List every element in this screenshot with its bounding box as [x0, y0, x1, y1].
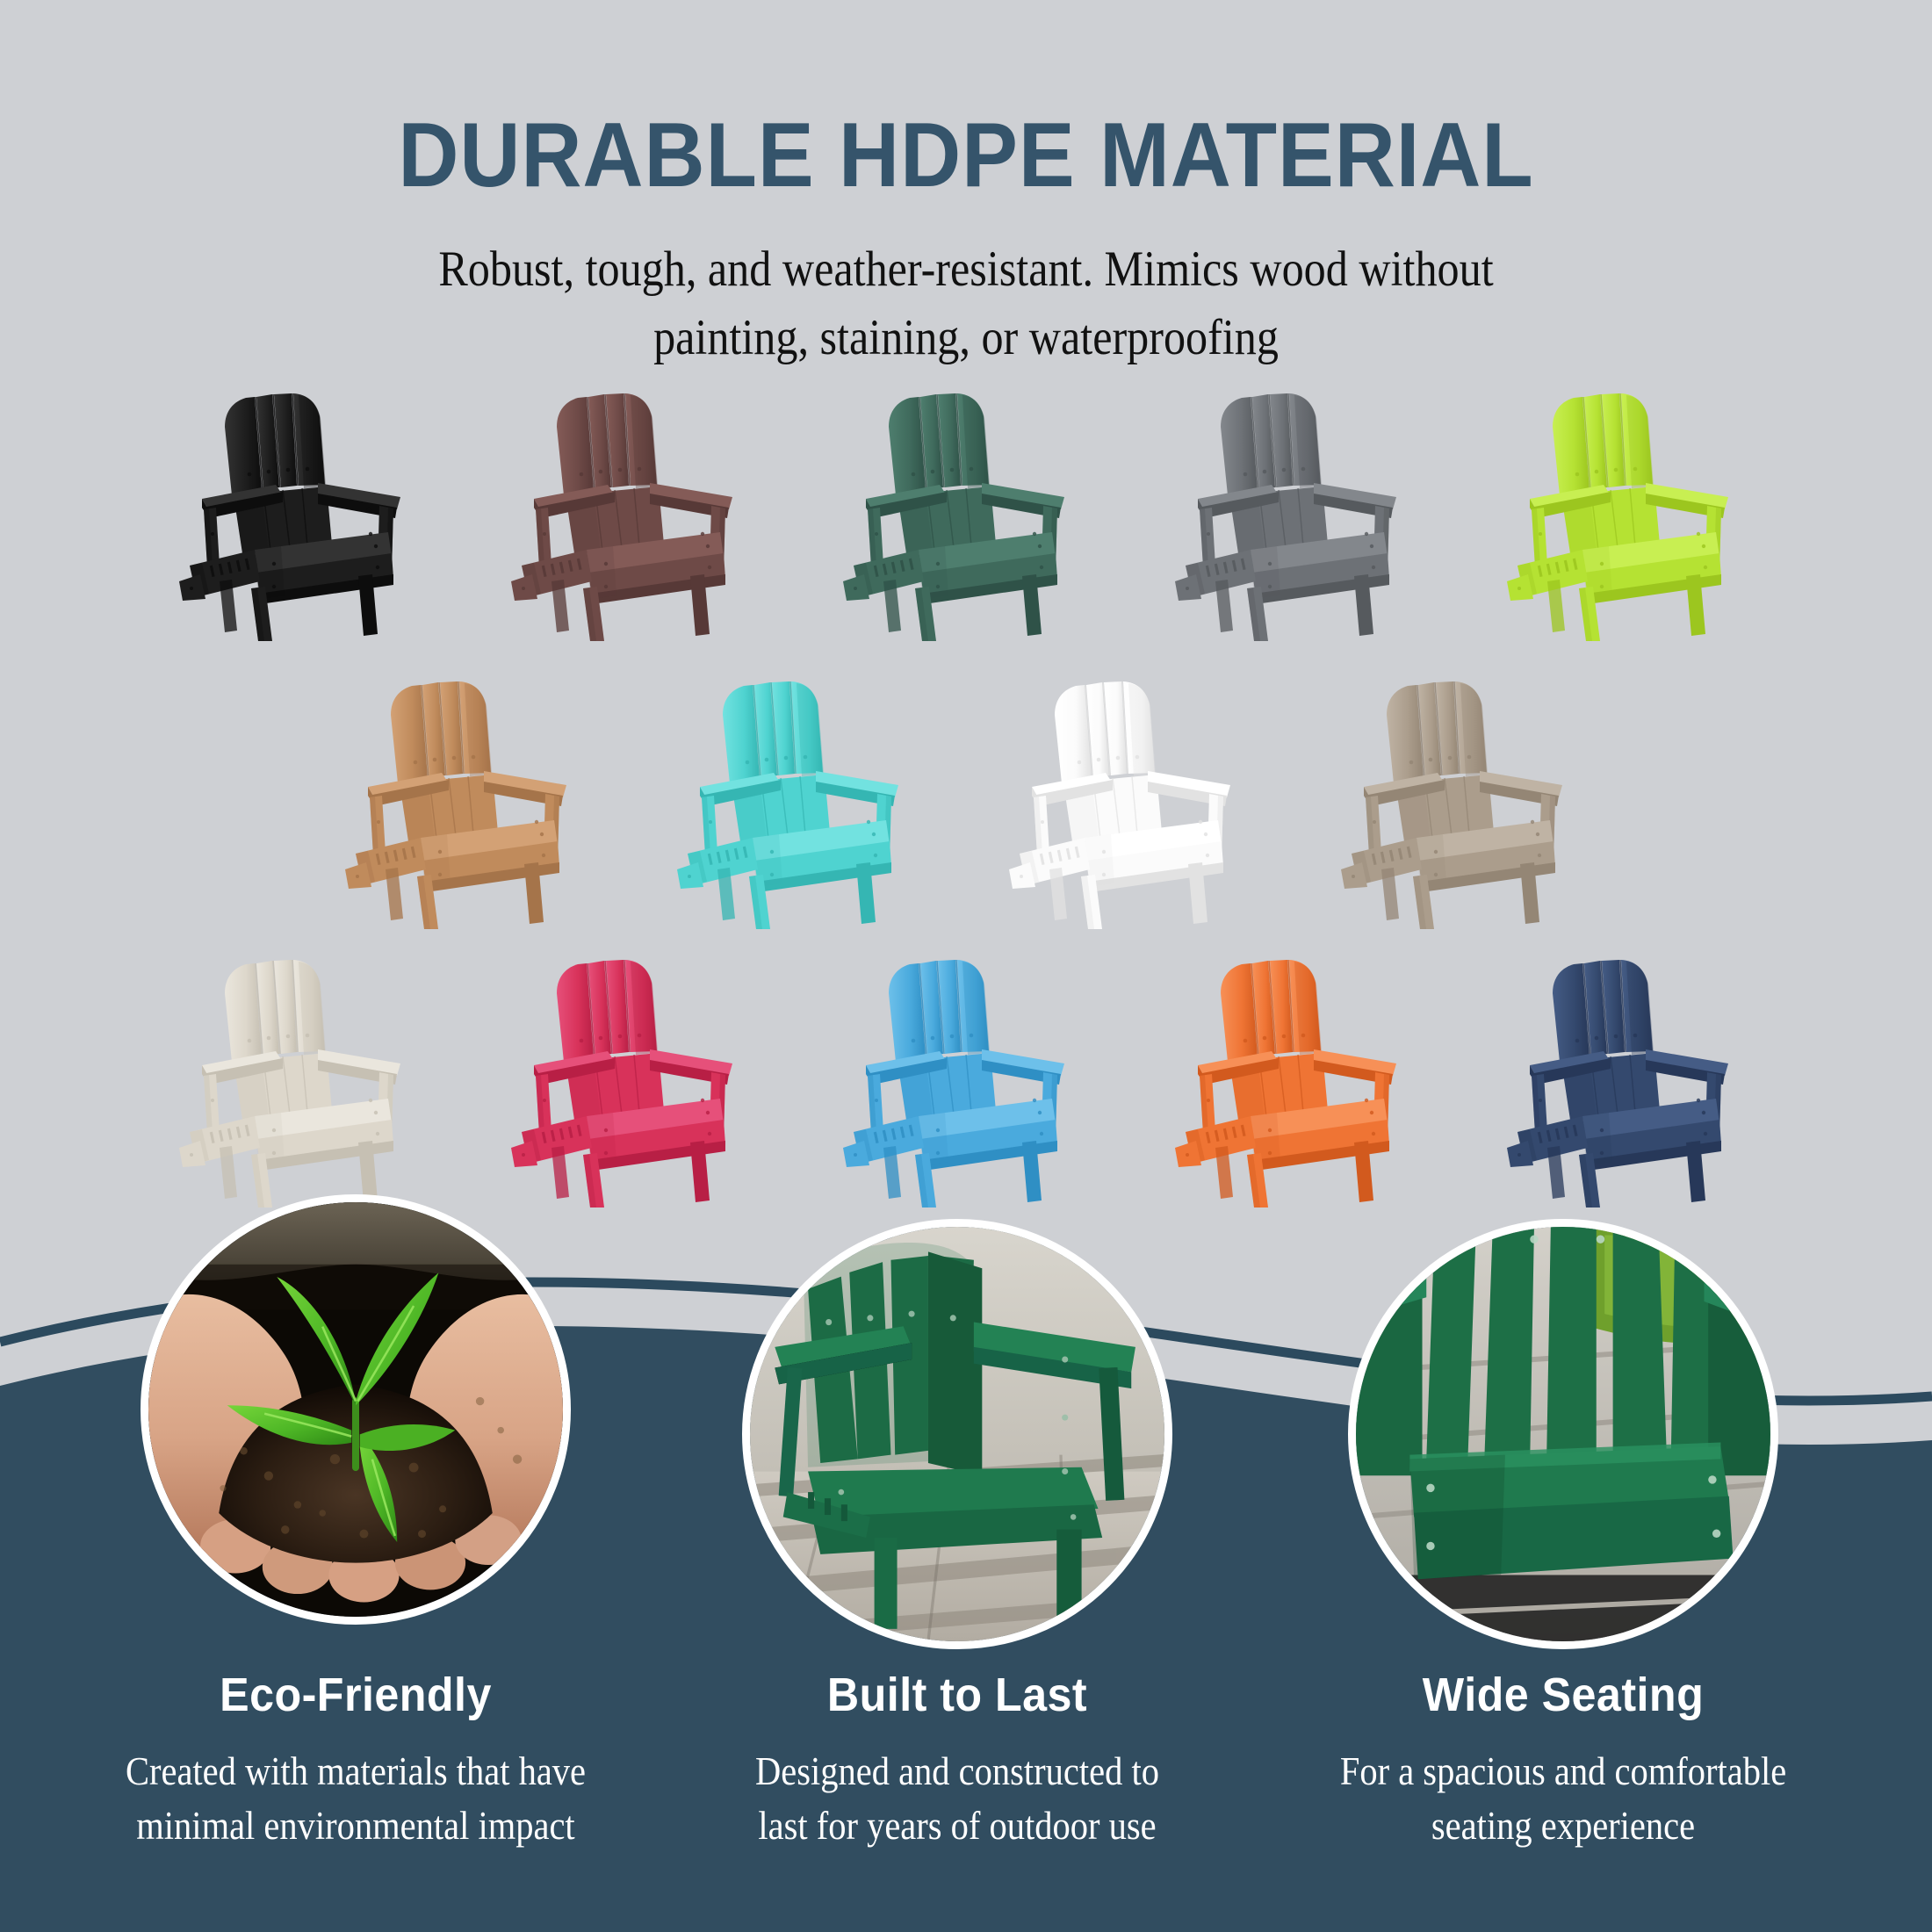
green-chair-on-patio-icon — [750, 1227, 1164, 1641]
chair-swatch-turquoise[interactable] — [668, 666, 932, 929]
chair-swatch-white[interactable] — [1000, 666, 1264, 929]
feature-description: For a spacious and comfortable seating e… — [1302, 1744, 1824, 1853]
chair-swatch-gray[interactable] — [1166, 378, 1430, 641]
wide-seat-closeup-icon — [1356, 1227, 1770, 1641]
chair-swatch-orange[interactable] — [1166, 944, 1430, 1207]
feature-desc-line-2: seating experience — [1302, 1799, 1824, 1853]
feature-description: Designed and constructed to last for yea… — [696, 1744, 1218, 1853]
chair-swatch-blue[interactable] — [834, 944, 1098, 1207]
feature-desc-line-1: Designed and constructed to — [696, 1744, 1218, 1799]
hands-holding-soil-icon — [148, 1202, 563, 1617]
chair-swatch-navy[interactable] — [1498, 944, 1762, 1207]
feature-title: Eco-Friendly — [86, 1669, 625, 1721]
page-subtitle: Robust, tough, and weather-resistant. Mi… — [364, 235, 1569, 372]
chair-swatch-ivory[interactable] — [170, 944, 434, 1207]
chair-swatch-brown[interactable] — [502, 378, 766, 641]
feature-image-wide-seating — [1348, 1219, 1778, 1649]
subtitle-line-1: Robust, tough, and weather-resistant. Mi… — [364, 235, 1569, 304]
infographic-canvas: DURABLE HDPE MATERIAL Robust, tough, and… — [0, 0, 1932, 1932]
chair-swatch-taupe[interactable] — [1332, 666, 1596, 929]
chair-row-3 — [0, 944, 1932, 1207]
chair-swatch-black[interactable] — [170, 378, 434, 641]
feature-block-eco-friendly: Eco-Friendly Created with materials that… — [66, 1669, 645, 1853]
chair-swatch-red[interactable] — [502, 944, 766, 1207]
chair-row-1 — [0, 378, 1932, 641]
feature-image-built-to-last — [742, 1219, 1172, 1649]
feature-desc-line-2: minimal environmental impact — [95, 1799, 616, 1853]
feature-block-built-to-last: Built to Last Designed and constructed t… — [667, 1669, 1247, 1853]
page-title: DURABLE HDPE MATERIAL — [77, 104, 1855, 208]
chair-swatch-dark-green[interactable] — [834, 378, 1098, 641]
feature-title: Wide Seating — [1294, 1669, 1833, 1721]
chair-row-2 — [0, 666, 1932, 929]
feature-block-wide-seating: Wide Seating For a spacious and comforta… — [1273, 1669, 1853, 1853]
chair-swatch-lime-green[interactable] — [1498, 378, 1762, 641]
subtitle-line-2: painting, staining, or waterproofing — [364, 304, 1569, 372]
feature-desc-line-2: last for years of outdoor use — [696, 1799, 1218, 1853]
feature-title: Built to Last — [688, 1669, 1227, 1721]
feature-desc-line-1: Created with materials that have — [95, 1744, 616, 1799]
feature-desc-line-1: For a spacious and comfortable — [1302, 1744, 1824, 1799]
chair-swatch-teak[interactable] — [336, 666, 600, 929]
feature-description: Created with materials that have minimal… — [95, 1744, 616, 1853]
feature-image-eco-friendly — [141, 1194, 571, 1625]
